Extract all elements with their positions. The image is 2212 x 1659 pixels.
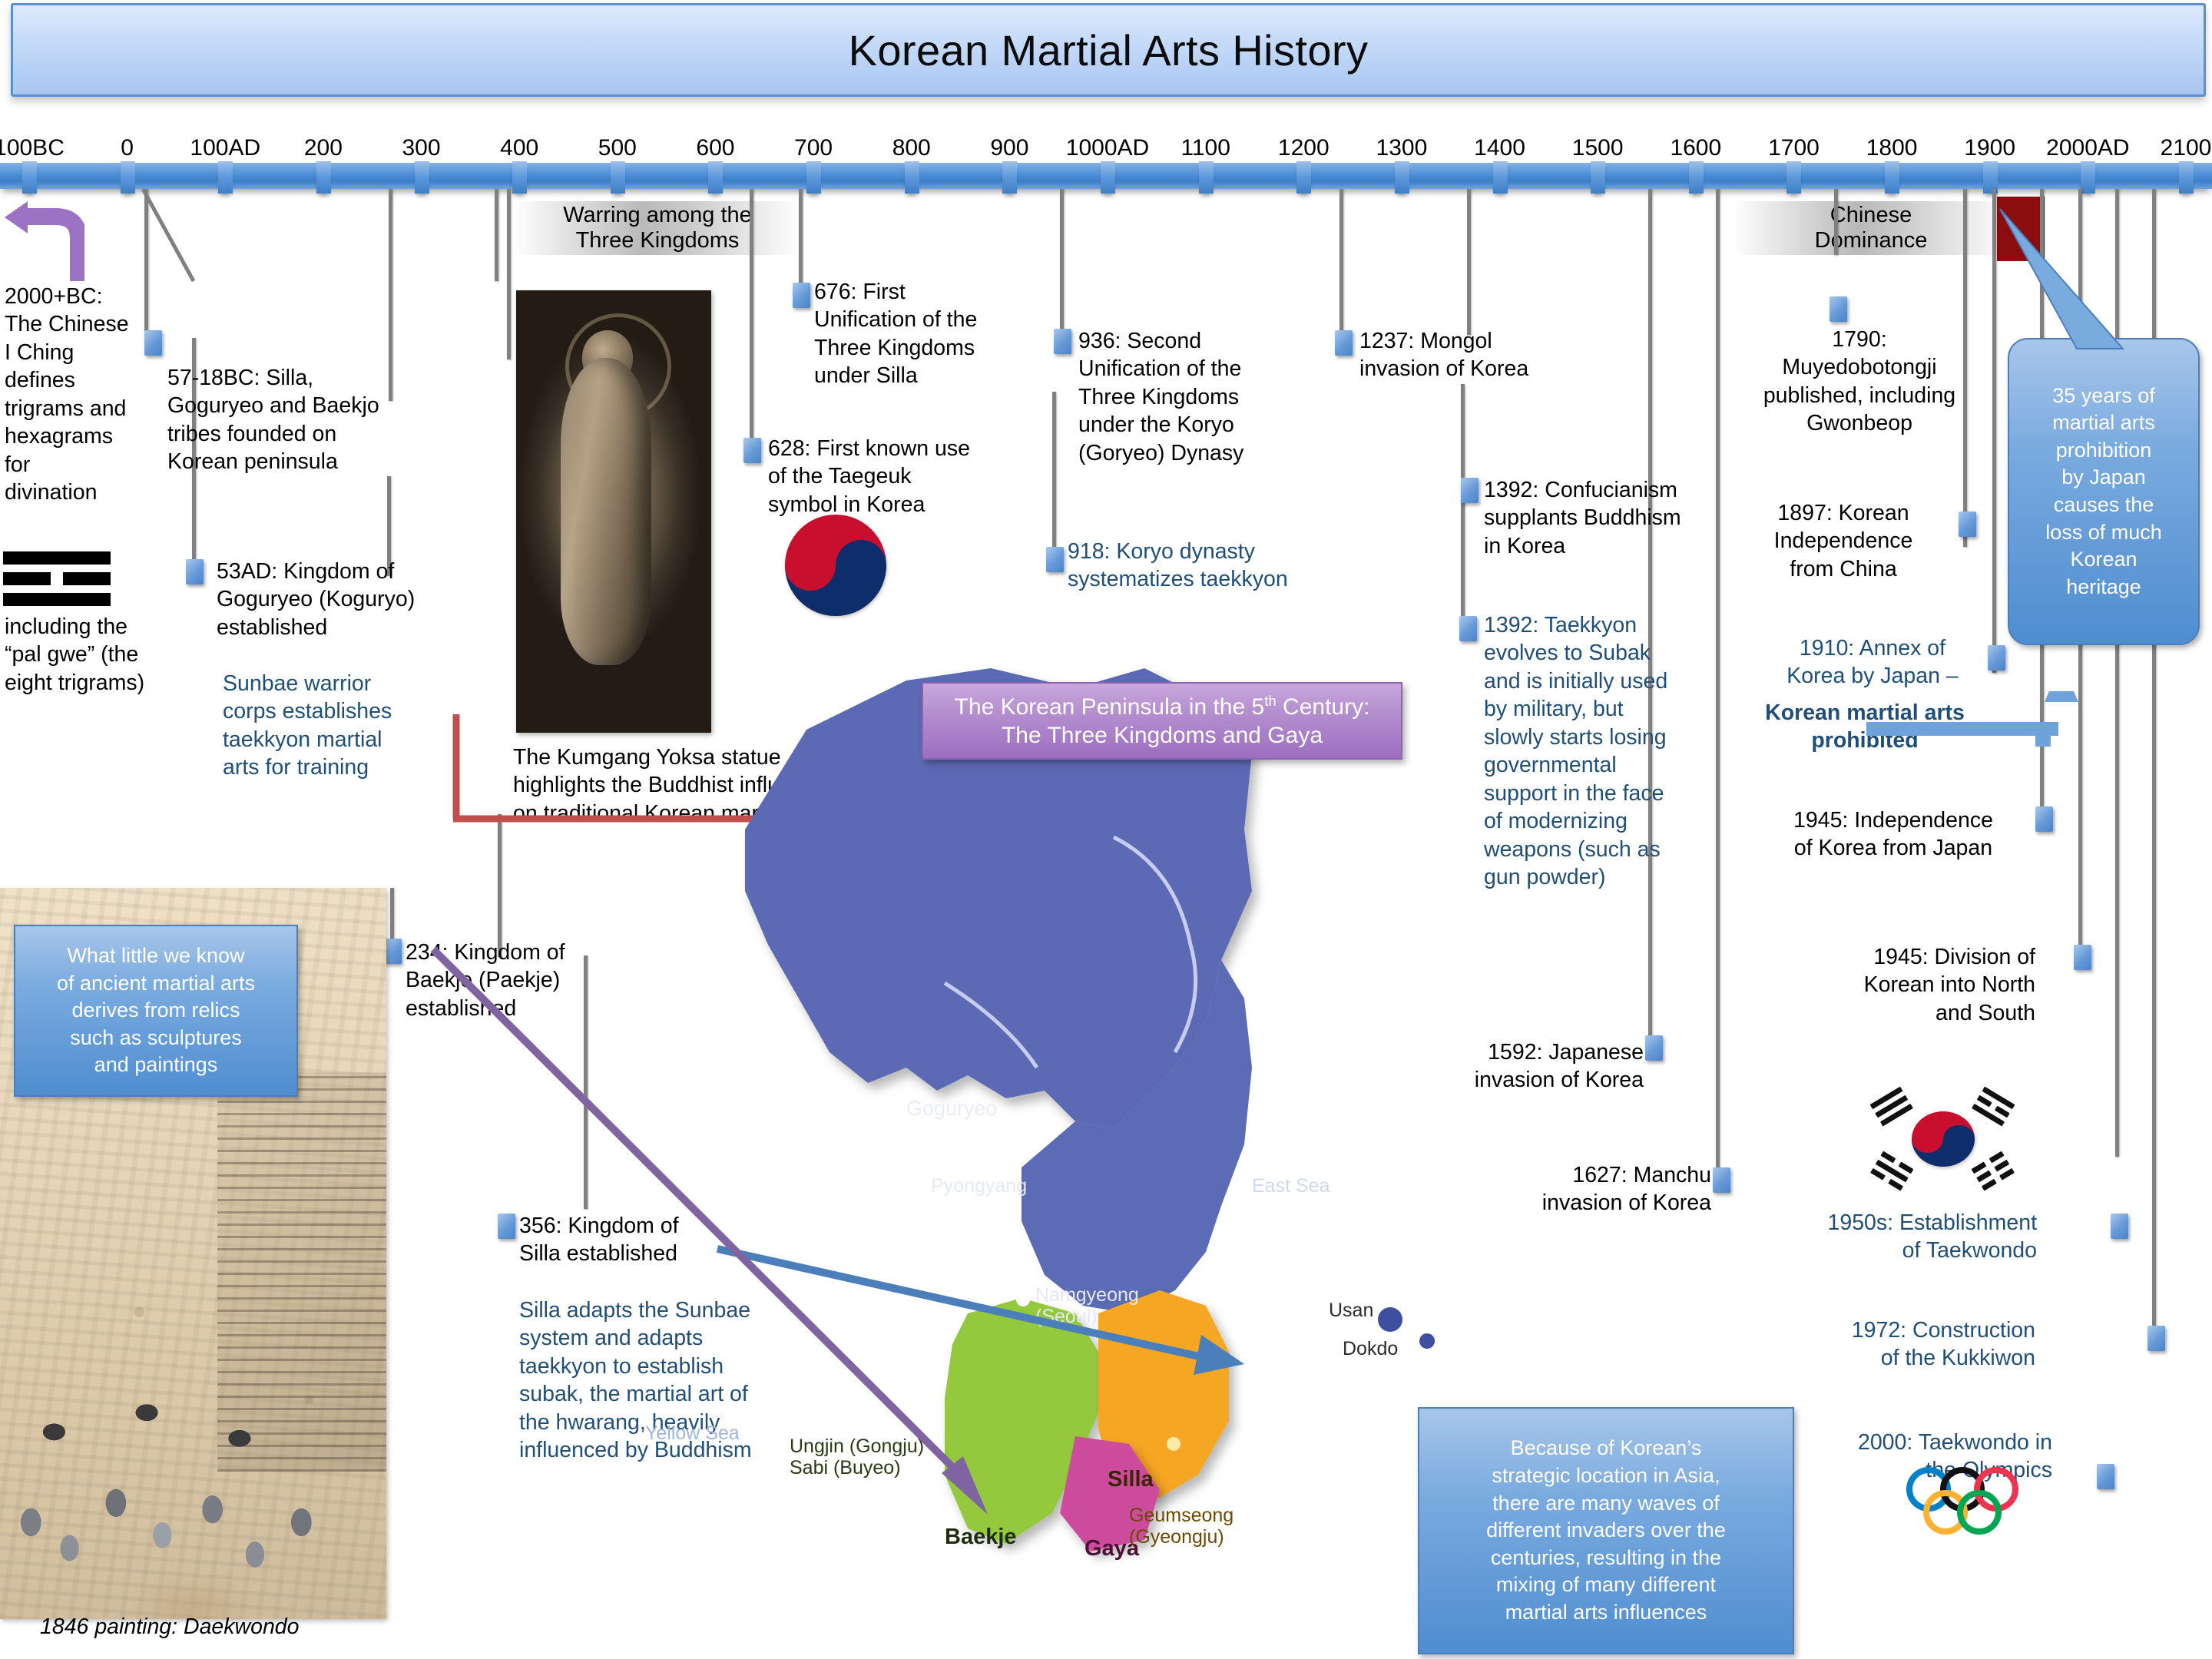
purple-arrow-baekje-icon <box>430 945 1121 1544</box>
event-marker[interactable] <box>743 438 761 463</box>
leader-line <box>390 888 394 946</box>
map-place-east-sea: East Sea <box>1252 1175 1330 1197</box>
timeline-tick-label: 500 <box>598 135 637 161</box>
map-title-line1b: Century: <box>1277 694 1370 720</box>
callout-relics: What little we know of ancient martial a… <box>14 925 298 1097</box>
timeline-tick-label: 2000AD <box>2046 135 2129 161</box>
timeline-tick-label: 300 <box>402 135 441 161</box>
leader-line <box>1339 189 1343 336</box>
event-text-2000bc-cont: including the “pal gwe” (the eight trigr… <box>5 613 181 697</box>
event-text-1945-division: 1945: Division of Korean into North and … <box>1767 943 2035 1027</box>
page-title: Korean Martial Arts History <box>849 25 1369 75</box>
event-text-1897: 1897: Korean Independence from China <box>1728 499 1959 583</box>
event-marker[interactable] <box>1054 329 1071 354</box>
era-label-warring: Warring among the Three Kingdoms <box>563 203 752 254</box>
event-marker[interactable] <box>2097 1464 2114 1489</box>
curved-arrow-icon <box>2 198 84 283</box>
event-marker[interactable] <box>2147 1326 2165 1351</box>
callout-arrow-prohibition <box>1866 691 2120 806</box>
timeline-tick <box>22 161 37 194</box>
timeline-tick-label: 700 <box>794 135 833 161</box>
leader-line <box>750 189 753 444</box>
event-text-918: 918: Koryo dynasty systematizes taekkyon <box>1068 538 1344 594</box>
event-marker[interactable] <box>1988 645 2005 671</box>
era-band-chinese-dominance: Chinese Dominance <box>1733 201 2009 255</box>
era-label-chinese-dominance: Chinese Dominance <box>1815 203 1928 254</box>
olympic-rings-icon <box>1906 1467 2065 1553</box>
leader-line <box>1834 189 1838 255</box>
timeline-tick <box>1296 161 1311 194</box>
timeline-tick-label: 100BC <box>0 135 65 161</box>
timeline-tick-label: 1700 <box>1768 135 1820 161</box>
event-text-53ad-note: Sunbae warrior corps establishes taekkyo… <box>223 670 438 782</box>
timeline-tick <box>1002 161 1017 194</box>
leader-line <box>1052 392 1056 555</box>
event-marker[interactable] <box>1335 330 1353 356</box>
timeline-tick <box>1493 161 1508 194</box>
timeline-tick-label: 800 <box>892 135 931 161</box>
red-arrow-stem <box>449 714 464 822</box>
leader-line <box>1467 189 1471 335</box>
timeline-tick <box>316 161 331 194</box>
event-marker[interactable] <box>186 559 204 584</box>
leader-line <box>799 189 803 290</box>
painting-caption: 1846 painting: Daekwondo <box>40 1613 393 1641</box>
event-marker[interactable] <box>1830 296 1847 322</box>
timeline-tick <box>1885 161 1899 194</box>
timeline-tick <box>1101 161 1115 194</box>
timeline-tick <box>1395 161 1409 194</box>
callout-prohibition: 35 years of martial arts prohibition by … <box>2008 338 2200 645</box>
map-place-geumseong: Geumseong (Gyeongju) <box>1129 1505 1233 1548</box>
timeline-tick-label: 1600 <box>1670 135 1721 161</box>
timeline-tick-label: 200 <box>304 135 343 161</box>
timeline-tick-label: 1400 <box>1474 135 1525 161</box>
timeline-tick <box>905 161 919 194</box>
event-marker[interactable] <box>2074 945 2091 970</box>
i-ching-trigram-icon <box>3 551 111 607</box>
event-text-1972: 1972: Construction of the Kukkiwon <box>1782 1316 2035 1373</box>
timeline-tick <box>1786 161 1801 194</box>
timeline-tick <box>2081 161 2095 194</box>
timeline-tick-label: 600 <box>696 135 734 161</box>
event-text-1945-independence: 1945: Independence of Korea from Japan <box>1751 806 2035 863</box>
event-marker[interactable] <box>384 939 402 964</box>
kumgang-yoksa-statue-image <box>516 290 711 733</box>
event-text-1950s: 1950s: Establishment of Taekwondo <box>1751 1209 2037 1265</box>
page-title-banner: Korean Martial Arts History <box>11 3 2206 97</box>
map-title-ordinal: th <box>1264 693 1277 709</box>
event-text-676: 676: First Unification of the Three King… <box>814 278 1045 390</box>
event-text-2000bc: 2000+BC: The Chinese I Ching defines tri… <box>5 283 158 507</box>
timeline-tick <box>708 161 723 194</box>
era-band-warring-three-kingdoms: Warring among the Three Kingdoms <box>513 201 802 255</box>
event-marker[interactable] <box>1713 1167 1730 1193</box>
event-text-628: 628: First known use of the Taegeuk symb… <box>768 435 1022 518</box>
event-marker[interactable] <box>793 283 810 308</box>
map-title-line1: The Korean Peninsula in the 5 <box>955 694 1265 720</box>
event-marker[interactable] <box>1959 512 1976 537</box>
leader-line <box>495 189 498 281</box>
timeline-tick-label: 0 <box>121 135 134 161</box>
timeline-tick <box>611 161 625 194</box>
event-marker[interactable] <box>1461 478 1479 503</box>
timeline-tick <box>512 161 527 194</box>
timeline-tick <box>1591 161 1605 194</box>
map-place-usan: Usan <box>1329 1300 1373 1322</box>
timeline-tick <box>415 161 429 194</box>
event-marker[interactable] <box>1645 1035 1663 1061</box>
timeline-tick-label: 1500 <box>1572 135 1624 161</box>
korean-flag-icon <box>1869 1091 2015 1187</box>
timeline-tick-label: 900 <box>990 135 1028 161</box>
timeline-tick <box>2179 161 2194 194</box>
timeline-tick-label: 1800 <box>1866 135 1918 161</box>
taegeuk-symbol-icon <box>785 515 886 616</box>
timeline-tick <box>1689 161 1704 194</box>
timeline-tick <box>806 161 821 194</box>
event-text-936: 936: Second Unification of the Three Kin… <box>1078 327 1316 467</box>
timeline-tick-label: 1900 <box>1964 135 2015 161</box>
callout-invaders: Because of Korean’s strategic location i… <box>1418 1407 1794 1654</box>
event-text-53ad: 53AD: Kingdom of Goguryeo (Koguryo) esta… <box>217 558 470 641</box>
timeline-tick-label: 100AD <box>190 135 260 161</box>
timeline-tick-label: 1200 <box>1278 135 1330 161</box>
map-place-dokdo: Dokdo <box>1343 1338 1398 1360</box>
event-marker[interactable] <box>1046 547 1064 572</box>
leader-line <box>507 189 511 359</box>
event-text-57bc: 57-18BC: Silla, Goguryeo and Baekjo trib… <box>167 364 413 476</box>
event-marker[interactable] <box>2111 1214 2128 1239</box>
map-title-label: The Korean Peninsula in the 5th Century:… <box>922 682 1402 760</box>
event-text-1910: 1910: Annex of Korea by Japan – <box>1759 634 1986 690</box>
event-text-1237: 1237: Mongol invasion of Korea <box>1359 327 1605 383</box>
leader-line <box>1060 189 1064 335</box>
callout-tail-prohibition <box>1994 206 2132 352</box>
timeline-tick <box>1199 161 1214 194</box>
event-text-1392-confucianism: 1392: Confucianism supplants Buddhism in… <box>1484 476 1737 560</box>
timeline-tick-label: 1000AD <box>1066 135 1149 161</box>
leader-line <box>1461 384 1465 630</box>
timeline-tick-label: 1300 <box>1376 135 1428 161</box>
timeline-tick <box>121 161 135 194</box>
event-marker[interactable] <box>2035 806 2053 832</box>
event-text-1790: 1790: Muyedobotongji published, includin… <box>1733 326 1986 438</box>
timeline-tick-label: 1100 <box>1181 135 1230 161</box>
timeline-tick-label: 400 <box>500 135 538 161</box>
map-title-line2: The Three Kingdoms and Gaya <box>1002 723 1323 748</box>
timeline-tick-label: 2100 <box>2161 135 2212 161</box>
